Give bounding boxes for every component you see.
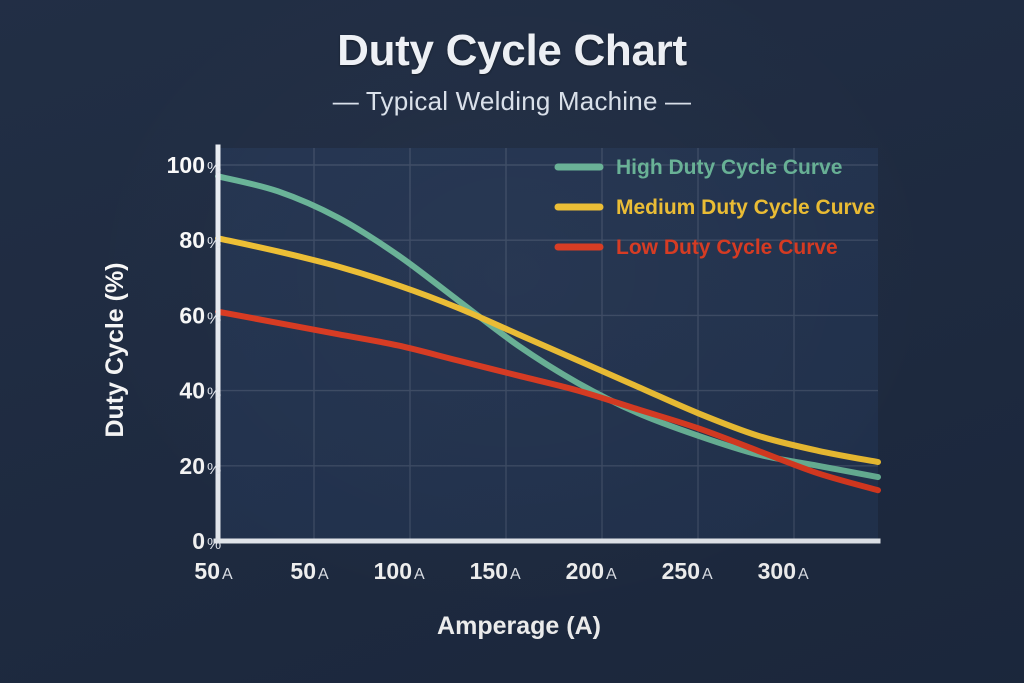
x-tick-label: 100A	[374, 558, 425, 584]
y-tick-unit: %	[207, 235, 221, 252]
x-tick-unit: A	[798, 566, 809, 583]
duty-cycle-line-chart: 0%20%40%60%80%100% 50A50A100A150A200A250…	[0, 0, 1024, 683]
y-tick-unit: %	[207, 461, 221, 478]
y-tick-label: 20	[179, 453, 205, 479]
legend-label: Low Duty Cycle Curve	[616, 236, 838, 259]
y-tick-label: 0	[192, 528, 205, 554]
x-tick-unit: A	[414, 566, 425, 583]
chart-canvas: Duty Cycle Chart — Typical Welding Machi…	[0, 0, 1024, 683]
y-axis-title: Duty Cycle (%)	[101, 262, 129, 437]
x-tick-value: 250	[662, 558, 700, 584]
x-tick-label: 50A	[194, 558, 233, 584]
y-tick-label: 80	[179, 227, 205, 253]
y-tick-unit: %	[207, 310, 221, 327]
y-tick-label: 40	[179, 378, 205, 404]
legend-label: High Duty Cycle Curve	[616, 156, 842, 179]
x-axis-title: Amperage (A)	[437, 612, 601, 640]
x-tick-unit: A	[702, 566, 713, 583]
x-tick-label: 300A	[758, 558, 809, 584]
x-tick-value: 100	[374, 558, 412, 584]
x-tick-value: 150	[470, 558, 508, 584]
y-axis-tick-labels: 0%20%40%60%80%100%	[167, 152, 222, 554]
x-axis-tick-labels: 50A50A100A150A200A250A300A	[194, 558, 809, 584]
x-tick-value: 300	[758, 558, 796, 584]
legend-label: Medium Duty Cycle Curve	[616, 196, 875, 219]
y-tick-label: 60	[179, 302, 205, 328]
x-tick-value: 50	[194, 558, 220, 584]
y-tick-unit: %	[207, 160, 221, 177]
x-tick-label: 200A	[566, 558, 617, 584]
y-tick-unit: %	[207, 536, 221, 553]
x-tick-value: 50	[290, 558, 316, 584]
x-tick-unit: A	[510, 566, 521, 583]
y-tick-label: 100	[167, 152, 205, 178]
x-tick-label: 150A	[470, 558, 521, 584]
x-tick-value: 200	[566, 558, 604, 584]
y-tick-unit: %	[207, 386, 221, 403]
x-tick-label: 50A	[290, 558, 329, 584]
x-tick-unit: A	[222, 566, 233, 583]
x-tick-unit: A	[318, 566, 329, 583]
x-tick-label: 250A	[662, 558, 713, 584]
x-tick-unit: A	[606, 566, 617, 583]
